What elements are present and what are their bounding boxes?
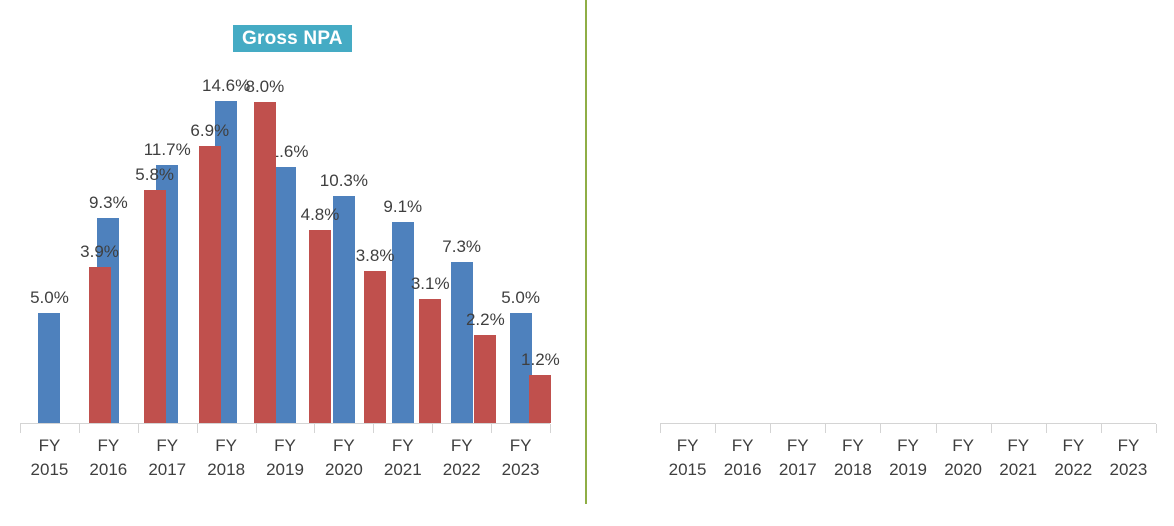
axis-tick [936, 424, 937, 433]
axis-tick [825, 424, 826, 433]
bar-group: 8.0% [237, 70, 292, 423]
x-tick-label-line: 2020 [936, 458, 991, 482]
bar-value-label: 1.2% [521, 350, 560, 370]
x-tick-label-line: 2017 [770, 458, 825, 482]
bar[interactable] [254, 102, 276, 423]
x-tick-label-line: FY [660, 434, 715, 458]
bar[interactable] [529, 375, 551, 423]
axis-tick [715, 424, 716, 433]
x-tick-label-line: 2019 [256, 458, 315, 482]
x-tick-label-line: FY [1046, 434, 1101, 458]
x-tick-label-line: FY [491, 434, 550, 458]
bar-group: 5.8% [127, 70, 182, 423]
x-tick-label: FY2022 [432, 434, 491, 494]
axis-tick [660, 424, 661, 433]
x-axis-net-npa [660, 423, 1156, 433]
bar-group: 2.2% [458, 70, 513, 423]
bar-value-label: 2.2% [466, 310, 505, 330]
axis-tick [138, 424, 139, 433]
axis-tick [197, 424, 198, 433]
axis-tick [770, 424, 771, 433]
x-tick-label: FY2015 [20, 434, 79, 494]
x-tick-label: FY2021 [991, 434, 1046, 494]
x-tick-label: FY2015 [660, 434, 715, 494]
x-tick-label: FY2020 [314, 434, 373, 494]
x-tick-label-line: FY [936, 434, 991, 458]
x-tick-label-line: FY [197, 434, 256, 458]
bar[interactable] [89, 267, 111, 423]
x-tick-label-line: 2023 [491, 458, 550, 482]
axis-tick [880, 424, 881, 433]
bar[interactable] [144, 190, 166, 423]
x-tick-label: FY2017 [138, 434, 197, 494]
x-tick-label-line: FY [991, 434, 1046, 458]
x-tick-label: FY2016 [715, 434, 770, 494]
plot-area-net-npa: 3.9%5.8%6.9%8.0%4.8%3.8%3.1%2.2%1.2% [72, 70, 568, 423]
axis-tick [491, 424, 492, 433]
bar-value-label: 4.8% [301, 205, 340, 225]
x-tick-label-line: FY [138, 434, 197, 458]
x-tick-label: FY2018 [825, 434, 880, 494]
bar[interactable] [309, 230, 331, 423]
x-tick-label-line: 2017 [138, 458, 197, 482]
panel-divider [585, 0, 587, 504]
bar-value-label: 8.0% [246, 77, 285, 97]
chart-title-gross-npa: Gross NPA [233, 25, 352, 52]
x-tick-label-line: FY [715, 434, 770, 458]
x-tick-label-line: 2021 [373, 458, 432, 482]
axis-tick [550, 424, 551, 433]
x-tick-label: FY2022 [1046, 434, 1101, 494]
bar-group: 6.9% [182, 70, 237, 423]
x-tick-label-line: 2016 [79, 458, 138, 482]
bar-series-net-npa: 3.9%5.8%6.9%8.0%4.8%3.8%3.1%2.2%1.2% [72, 70, 568, 423]
x-tick-label-line: 2015 [20, 458, 79, 482]
x-tick-label-line: FY [1101, 434, 1156, 458]
x-tick-label: FY2019 [256, 434, 315, 494]
x-tick-label-line: FY [880, 434, 935, 458]
x-tick-label: FY2023 [491, 434, 550, 494]
bar[interactable] [419, 299, 441, 423]
x-tick-label-line: 2018 [197, 458, 256, 482]
axis-tick [256, 424, 257, 433]
bar-group: 4.8% [292, 70, 347, 423]
x-tick-label-line: 2023 [1101, 458, 1156, 482]
bar[interactable] [38, 313, 60, 423]
x-tick-label: FY2023 [1101, 434, 1156, 494]
x-tick-label-line: FY [770, 434, 825, 458]
x-tick-label-line: FY [825, 434, 880, 458]
x-axis-labels-net-npa: FY2015FY2016FY2017FY2018FY2019FY2020FY20… [660, 434, 1156, 494]
bar-group: 1.2% [513, 70, 568, 423]
bar-group: 5.0% [20, 70, 79, 423]
x-tick-label-line: 2020 [314, 458, 373, 482]
x-tick-label-line: 2019 [880, 458, 935, 482]
x-tick-label-line: FY [79, 434, 138, 458]
bar[interactable] [474, 335, 496, 423]
x-tick-label: FY2016 [79, 434, 138, 494]
x-tick-label-line: 2015 [660, 458, 715, 482]
bar-value-label: 3.8% [356, 246, 395, 266]
x-tick-label: FY2021 [373, 434, 432, 494]
bar-group: 3.9% [72, 70, 127, 423]
x-tick-label-line: 2018 [825, 458, 880, 482]
bar-value-label: 3.1% [411, 274, 450, 294]
x-tick-label: FY2020 [936, 434, 991, 494]
x-tick-label-line: FY [314, 434, 373, 458]
axis-tick [79, 424, 80, 433]
bar-value-label: 5.8% [135, 165, 174, 185]
x-tick-label: FY2017 [770, 434, 825, 494]
axis-tick [1156, 424, 1157, 433]
bar-value-label: 6.9% [190, 121, 229, 141]
x-tick-label-line: FY [20, 434, 79, 458]
x-tick-label-line: FY [432, 434, 491, 458]
bar-value-label: 5.0% [30, 288, 69, 308]
bar[interactable] [199, 146, 221, 423]
axis-tick [1101, 424, 1102, 433]
x-tick-label-line: 2022 [432, 458, 491, 482]
x-tick-label-line: 2022 [1046, 458, 1101, 482]
axis-tick [314, 424, 315, 433]
x-tick-label: FY2018 [197, 434, 256, 494]
axis-tick [373, 424, 374, 433]
x-tick-label-line: 2016 [715, 458, 770, 482]
bar-group: 3.8% [348, 70, 403, 423]
x-tick-label: FY2019 [880, 434, 935, 494]
bar-value-label: 3.9% [80, 242, 119, 262]
chart-page: Gross NPA 5.0%9.3%11.7%14.6%11.6%10.3%9.… [0, 0, 1174, 526]
x-tick-label-line: FY [256, 434, 315, 458]
axis-tick [432, 424, 433, 433]
x-tick-label-line: 2021 [991, 458, 1046, 482]
x-tick-label-line: FY [373, 434, 432, 458]
x-axis-gross-npa [20, 423, 550, 433]
x-axis-labels-gross-npa: FY2015FY2016FY2017FY2018FY2019FY2020FY20… [20, 434, 550, 494]
bar-group: 3.1% [403, 70, 458, 423]
bar[interactable] [364, 271, 386, 423]
axis-tick [991, 424, 992, 433]
axis-tick [20, 424, 21, 433]
axis-tick [1046, 424, 1047, 433]
